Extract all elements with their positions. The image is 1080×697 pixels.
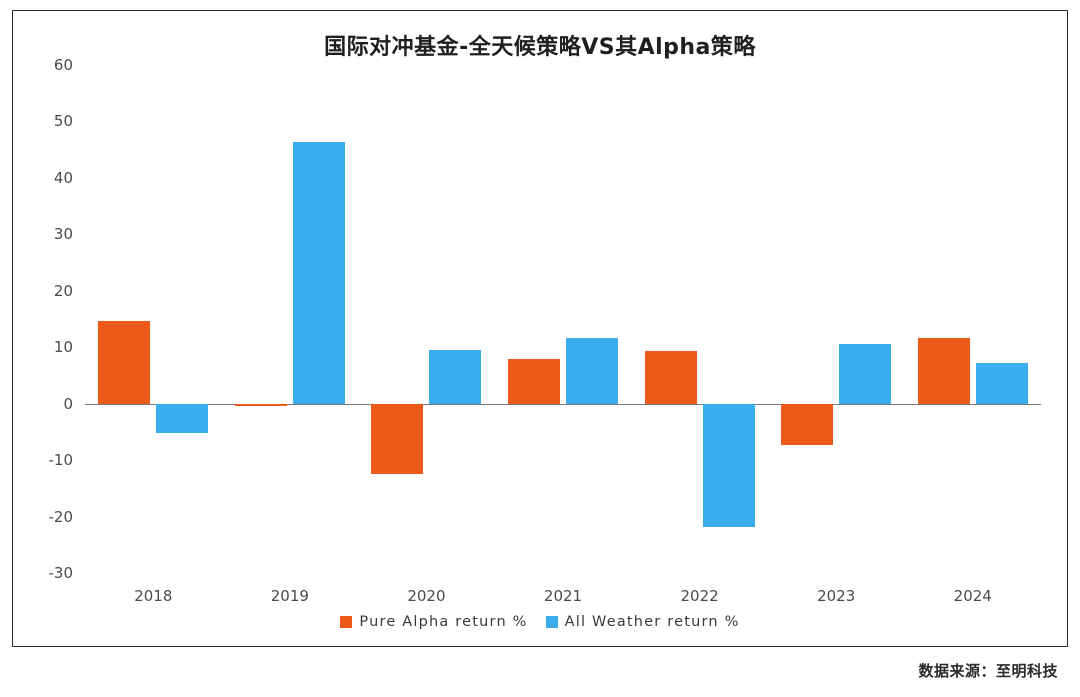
bar-all-weather-2021[interactable]: [566, 338, 618, 403]
y-tick-label: 40: [54, 169, 73, 187]
bar-pure-alpha-2023[interactable]: [781, 404, 833, 446]
bar-groups: 2018201920202021202220232024: [85, 65, 1041, 573]
chart-card: 国际对冲基金-全天候策略VS其Alpha策略 6050403020100-10-…: [12, 10, 1068, 647]
y-tick-label: 10: [54, 338, 73, 356]
y-tick-label: 30: [54, 225, 73, 243]
bar-group: 2020: [358, 65, 495, 573]
bar-all-weather-2020[interactable]: [429, 350, 481, 404]
legend-item-all-weather[interactable]: All Weather return %: [546, 614, 740, 630]
legend-swatch-icon: [340, 616, 352, 628]
y-tick-label: 0: [63, 395, 73, 413]
x-tick-label: 2019: [222, 587, 359, 605]
legend-swatch-icon: [546, 616, 558, 628]
bar-all-weather-2022[interactable]: [703, 404, 755, 527]
y-tick-label: 50: [54, 112, 73, 130]
bar-all-weather-2024[interactable]: [976, 363, 1028, 404]
bar-pure-alpha-2021[interactable]: [508, 359, 560, 404]
bar-group: 2018: [85, 65, 222, 573]
bar-pure-alpha-2024[interactable]: [918, 338, 970, 403]
x-tick-label: 2022: [631, 587, 768, 605]
bar-group: 2021: [495, 65, 632, 573]
bar-group: 2022: [631, 65, 768, 573]
legend-item-pure-alpha[interactable]: Pure Alpha return %: [340, 614, 527, 630]
y-tick-label: 20: [54, 282, 73, 300]
bar-group: 2023: [768, 65, 905, 573]
plot-area: 6050403020100-10-20-30 20182019202020212…: [85, 65, 1041, 573]
x-tick-label: 2023: [768, 587, 905, 605]
bar-pure-alpha-2018[interactable]: [98, 321, 150, 403]
bar-all-weather-2019[interactable]: [293, 142, 345, 404]
bar-pure-alpha-2022[interactable]: [645, 351, 697, 403]
x-tick-label: 2021: [495, 587, 632, 605]
chart-legend: Pure Alpha return %All Weather return %: [13, 614, 1067, 630]
x-tick-label: 2020: [358, 587, 495, 605]
y-tick-label: -10: [49, 451, 74, 469]
bar-group: 2019: [222, 65, 359, 573]
legend-label: All Weather return %: [565, 614, 740, 630]
chart-page: 国际对冲基金-全天候策略VS其Alpha策略 6050403020100-10-…: [0, 0, 1080, 697]
bar-pure-alpha-2020[interactable]: [371, 404, 423, 475]
bar-all-weather-2018[interactable]: [156, 404, 208, 433]
x-tick-label: 2024: [904, 587, 1041, 605]
bar-all-weather-2023[interactable]: [839, 344, 891, 404]
bar-group: 2024: [904, 65, 1041, 573]
legend-label: Pure Alpha return %: [359, 614, 527, 630]
y-tick-label: -20: [49, 508, 74, 526]
y-tick-label: -30: [49, 564, 74, 582]
y-tick-label: 60: [54, 56, 73, 74]
bar-pure-alpha-2019[interactable]: [235, 404, 287, 407]
source-note: 数据来源：至明科技: [918, 660, 1058, 681]
chart-title: 国际对冲基金-全天候策略VS其Alpha策略: [13, 29, 1067, 61]
x-tick-label: 2018: [85, 587, 222, 605]
